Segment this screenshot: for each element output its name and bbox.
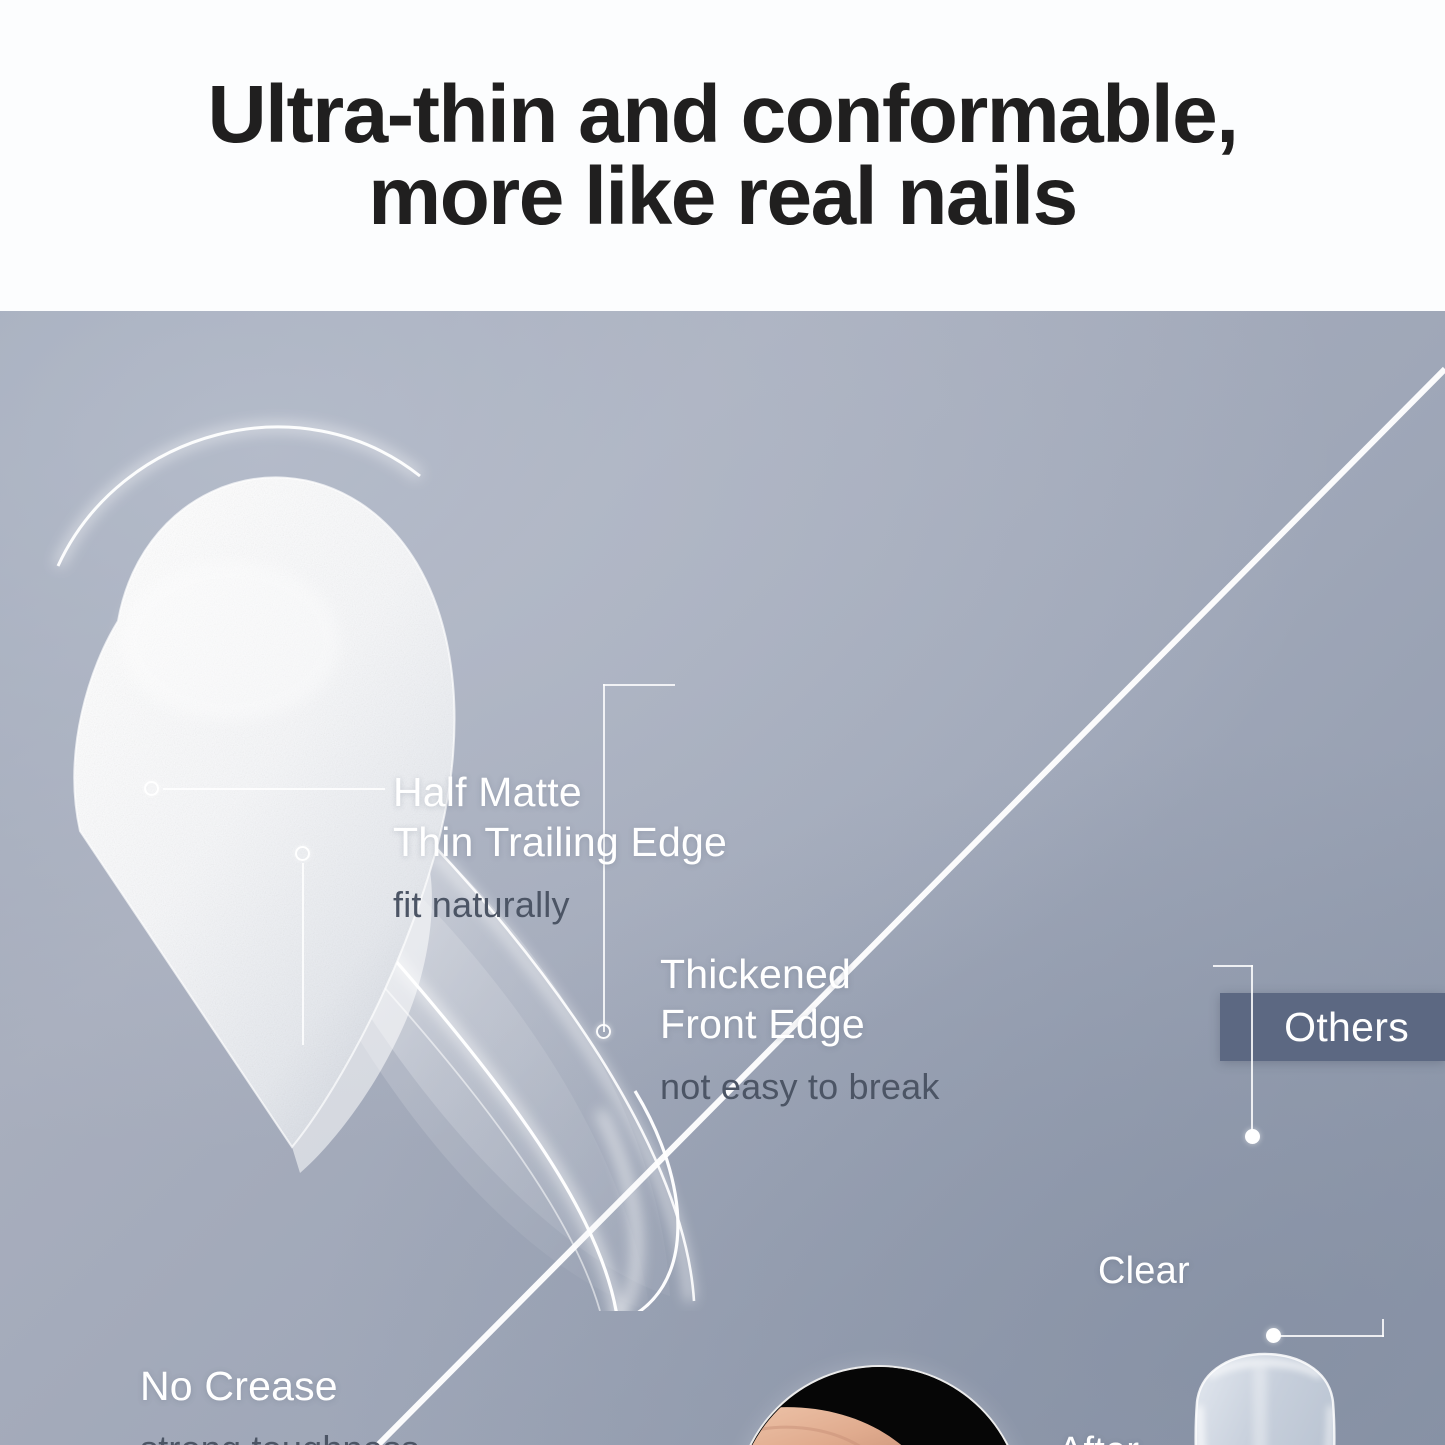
callout-front-edge-subtitle: not easy to break — [660, 1065, 940, 1108]
headline-line-2: more like real nails — [23, 156, 1423, 237]
callout-half-matte-subtitle: fit naturally — [393, 883, 727, 926]
infographic-root: Ultra-thin and conformable, more like re… — [0, 0, 1445, 1445]
callout-half-matte: Half Matte Thin Trailing Edge fit natura… — [393, 767, 727, 926]
brand-badge-others: Others — [1220, 993, 1445, 1061]
callout-thickened-front-edge: Thickened Front Edge not easy to break — [660, 949, 940, 1108]
label-after-bend: After Bend — [1058, 1429, 1148, 1445]
clear-abs-nail-illustration — [1165, 1346, 1365, 1445]
leader-line-clear-horizontal — [1213, 965, 1253, 967]
marker-dot-no-crease — [295, 846, 310, 861]
leader-line-half-matte — [163, 788, 385, 790]
marker-dot-clear — [1245, 1129, 1260, 1144]
comparison-panel: Half Matte Thin Trailing Edge fit natura… — [0, 311, 1445, 1445]
callout-no-crease-subtitle: strong toughness — [140, 1427, 419, 1445]
bend-demo-photo — [734, 1365, 1024, 1445]
bend-demo-photo-content — [736, 1367, 1024, 1445]
leader-line-no-crease — [302, 863, 304, 1045]
label-clear: Clear — [1098, 1249, 1190, 1293]
callout-half-matte-title: Half Matte Thin Trailing Edge — [393, 767, 727, 867]
page-title: Ultra-thin and conformable, more like re… — [23, 74, 1423, 236]
callout-front-edge-title: Thickened Front Edge — [660, 949, 940, 1049]
callout-no-crease: No Crease strong toughness — [140, 1361, 419, 1445]
callout-no-crease-title: No Crease — [140, 1361, 419, 1411]
leader-line-abs-horizontal — [1274, 1335, 1384, 1337]
leader-line-front-edge-horizontal — [603, 684, 675, 686]
leader-line-clear-vertical — [1251, 965, 1253, 1137]
marker-dot-half-matte — [144, 781, 159, 796]
marker-dot-abs — [1266, 1328, 1281, 1343]
marker-dot-front-edge — [596, 1024, 611, 1039]
headline-line-1: Ultra-thin and conformable, — [207, 69, 1237, 160]
brand-badge-others-label: Others — [1284, 1004, 1409, 1051]
header-banner: Ultra-thin and conformable, more like re… — [0, 0, 1445, 311]
